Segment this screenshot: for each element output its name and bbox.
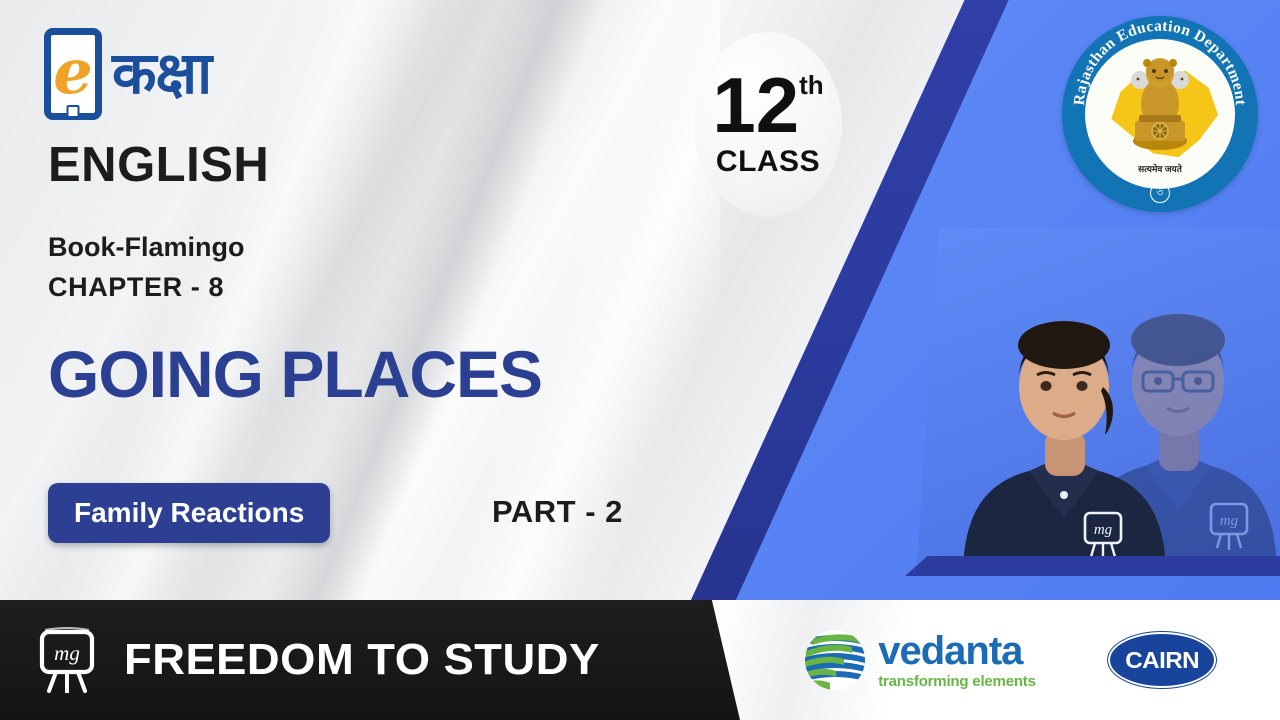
mg-board-icon: mg (36, 627, 98, 693)
cairn-name: CAIRN (1125, 647, 1199, 674)
lesson-topic-title: GOING PLACES (48, 336, 542, 412)
class-ordinal-suffix: th (799, 74, 824, 97)
seal-motto: सत्यमेव जयते (1138, 162, 1182, 175)
vedanta-logo: vedanta transforming elements (804, 629, 1036, 691)
tagline-bar: mg FREEDOM TO STUDY (0, 600, 740, 720)
logo-letter-e: e (53, 41, 92, 103)
sponsor-logos: vedanta transforming elements CAIRN (740, 600, 1280, 720)
book-name: Book-Flamingo (48, 232, 245, 263)
class-number: 12 (712, 70, 799, 140)
svg-text:mg: mg (54, 641, 80, 665)
chapter-number: CHAPTER - 8 (48, 272, 224, 303)
bottom-banner: mg FREEDOM TO STUDY (0, 600, 1280, 720)
photo-panel-base-strip (905, 556, 1280, 576)
rajasthan-education-department-seal: Rajasthan Education Department (1062, 16, 1258, 212)
subject-title: ENGLISH (48, 137, 269, 193)
part-label: PART - 2 (492, 494, 623, 530)
vedanta-tagline: transforming elements (878, 674, 1036, 689)
sub-topic-badge: Family Reactions (48, 483, 330, 543)
instructors-photo-panel: mg mg (905, 228, 1280, 576)
svg-text:mg: mg (1094, 522, 1113, 538)
class-number-group: 12 th (712, 70, 823, 140)
vedanta-name: vedanta (878, 631, 1036, 671)
class-badge: 12 th CLASS (694, 32, 842, 217)
thumbnail-canvas: e कक्षा ENGLISH Book-Flamingo CHAPTER - … (0, 0, 1280, 720)
logo-word-kaksha: कक्षा (112, 45, 211, 103)
svg-text:mg: mg (1220, 513, 1239, 529)
ekaksha-logo: e कक्षा (44, 28, 211, 120)
class-word-label: CLASS (716, 145, 820, 179)
seal-inner-disc: सत्यमेव जयते (1085, 39, 1235, 189)
seal-bottom-mark: ৩ (1150, 183, 1170, 203)
tablet-icon: e (44, 28, 102, 120)
cairn-logo: CAIRN (1108, 632, 1216, 688)
instructor-female-figure: mg (957, 291, 1172, 576)
tagline-text: FREEDOM TO STUDY (124, 635, 600, 685)
ashoka-lion-capital-emblem (1123, 47, 1197, 159)
vedanta-wordmark: vedanta transforming elements (878, 631, 1036, 689)
vedanta-globe-icon (804, 629, 866, 691)
